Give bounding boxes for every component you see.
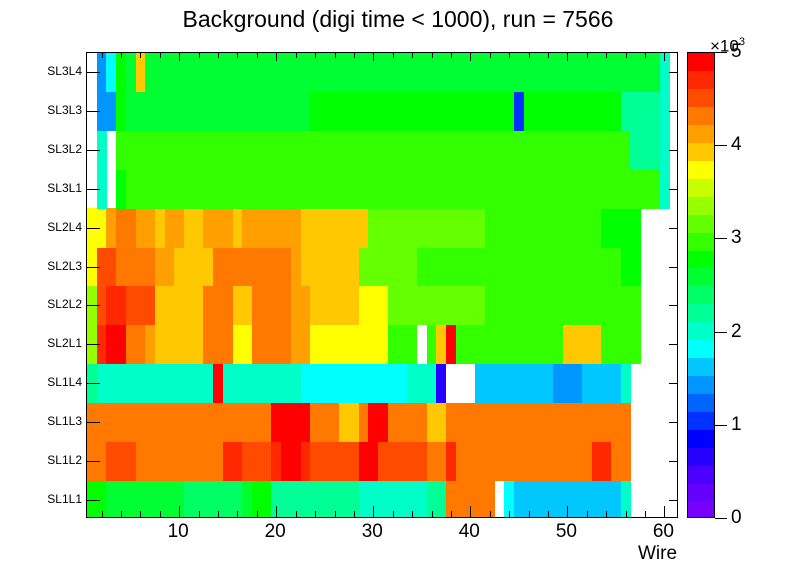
heatmap-cell xyxy=(136,53,146,92)
heatmap-cell xyxy=(310,325,388,364)
x-axis-tick-top xyxy=(626,53,627,58)
x-axis-tick xyxy=(645,511,646,517)
colorbar-segment xyxy=(688,268,714,286)
y-axis-tick-right xyxy=(669,461,677,462)
heatmap-cell xyxy=(116,92,126,131)
colorbar-segment xyxy=(688,340,714,358)
heatmap-cell xyxy=(378,441,427,480)
heatmap-cell xyxy=(388,403,427,442)
colorbar-segment xyxy=(688,53,714,71)
x-axis-tick xyxy=(237,511,238,517)
x-axis-tick xyxy=(587,511,588,517)
x-axis-tick xyxy=(373,506,374,517)
x-axis-label-40: 40 xyxy=(459,521,480,543)
heatmap-cell xyxy=(213,247,291,286)
heatmap-cell xyxy=(427,480,447,518)
heatmap-cell xyxy=(155,325,204,364)
heatmap-cell xyxy=(475,364,553,403)
heatmap-cell xyxy=(359,247,418,286)
x-axis-tick xyxy=(354,511,355,517)
colorbar-label-3: 3 xyxy=(731,227,742,249)
x-axis-tick-top xyxy=(606,53,607,58)
heatmap-cell xyxy=(106,480,184,518)
heatmap-cell xyxy=(388,325,418,364)
heatmap-cell xyxy=(456,441,592,480)
y-axis-tick xyxy=(87,189,100,190)
x-axis-tick xyxy=(470,506,471,517)
x-axis-tick xyxy=(218,511,219,517)
x-axis-tick xyxy=(548,511,549,517)
colorbar-label-5: 5 xyxy=(731,41,742,63)
colorbar-segment xyxy=(688,125,714,143)
colorbar-label-1: 1 xyxy=(731,414,742,436)
x-axis-tick-top xyxy=(354,53,355,58)
x-axis-tick-top xyxy=(548,53,549,58)
colorbar-segment xyxy=(688,483,714,501)
x-axis-tick-top xyxy=(509,53,510,58)
heatmap-cell xyxy=(601,325,640,364)
heatmap-cell xyxy=(456,325,563,364)
heatmap-cell xyxy=(106,286,126,325)
y-axis-tick-right xyxy=(669,228,677,229)
heatmap-cell xyxy=(126,53,136,92)
heatmap-cell xyxy=(301,247,360,286)
x-axis-tick-top xyxy=(373,53,374,61)
heatmap-cell xyxy=(184,480,243,518)
heatmap-cell xyxy=(359,286,389,325)
y-axis-tick-right xyxy=(669,305,677,306)
heatmap-cell xyxy=(116,131,631,170)
heatmap-cell xyxy=(407,364,437,403)
heatmap-cell xyxy=(291,286,311,325)
x-axis-tick-top xyxy=(102,53,103,58)
heatmap-cell xyxy=(174,247,213,286)
x-axis-tick-top xyxy=(237,53,238,58)
colorbar-segment xyxy=(688,501,714,518)
y-axis-tick-right xyxy=(669,72,677,73)
colorbar-segment xyxy=(688,358,714,376)
x-axis-label-10: 10 xyxy=(168,521,189,543)
y-axis-label-sl3l3: SL3L3 xyxy=(47,103,82,117)
heatmap-cell xyxy=(155,247,175,286)
x-axis-tick-top xyxy=(257,53,258,58)
colorbar-tick xyxy=(715,52,727,53)
colorbar-segment xyxy=(688,447,714,465)
colorbar-segment xyxy=(688,286,714,304)
colorbar-segment xyxy=(688,394,714,412)
colorbar-tick xyxy=(715,425,727,426)
x-axis-tick xyxy=(606,511,607,517)
x-axis-tick xyxy=(509,511,510,517)
colorbar-tick xyxy=(715,332,727,333)
colorbar-segment xyxy=(688,322,714,340)
heatmap-cell xyxy=(514,92,524,131)
x-axis-tick xyxy=(412,511,413,517)
heatmap-cell xyxy=(97,364,214,403)
heatmap-cell xyxy=(203,208,233,247)
x-axis-tick xyxy=(451,511,452,517)
heatmap-cell xyxy=(213,364,223,403)
y-axis-tick-right xyxy=(669,189,677,190)
x-axis-tick xyxy=(567,506,568,517)
y-axis-tick-right xyxy=(669,383,677,384)
x-axis-title: Wire xyxy=(638,543,677,565)
x-axis-tick-top xyxy=(179,53,180,61)
heatmap-cell xyxy=(233,208,243,247)
y-axis-label-sl3l2: SL3L2 xyxy=(47,142,82,156)
heatmap-cell xyxy=(106,208,116,247)
y-axis-label-sl2l2: SL2L2 xyxy=(47,297,82,311)
heatmap-cell xyxy=(359,403,369,442)
x-axis-tick xyxy=(102,511,103,517)
x-axis-tick-top xyxy=(121,53,122,58)
heatmap-cell xyxy=(291,325,311,364)
heatmap-cell xyxy=(446,325,456,364)
x-axis-tick-top xyxy=(529,53,530,58)
heatmap-cell xyxy=(223,441,243,480)
heatmap-cell xyxy=(126,170,660,209)
heatmap-cell xyxy=(252,480,272,518)
x-axis-tick-top xyxy=(432,53,433,58)
heatmap-cell xyxy=(203,325,233,364)
x-axis-tick-top xyxy=(664,53,665,61)
x-axis-tick xyxy=(160,511,161,517)
colorbar-tick xyxy=(715,145,727,146)
x-axis-label-60: 60 xyxy=(653,521,674,543)
heatmap-cell xyxy=(427,441,447,480)
colorbar-tick xyxy=(715,518,727,519)
colorbar-segment xyxy=(688,89,714,107)
colorbar-segment xyxy=(688,411,714,429)
heatmap-cell xyxy=(485,286,641,325)
y-axis-label-sl1l3: SL1L3 xyxy=(47,414,82,428)
heatmap-cell xyxy=(271,441,281,480)
x-axis-tick-top xyxy=(470,53,471,61)
heatmap-cell xyxy=(106,325,126,364)
heatmap-cell xyxy=(184,208,204,247)
heatmap-cell xyxy=(116,53,126,92)
heatmap-cell xyxy=(242,441,272,480)
heatmap-cell xyxy=(291,247,301,286)
x-axis-tick xyxy=(315,511,316,517)
heatmap-cell xyxy=(301,441,311,480)
x-axis-tick xyxy=(276,506,277,517)
y-axis-tick xyxy=(87,228,100,229)
heatmap-cell xyxy=(271,403,310,442)
heatmap-cell xyxy=(446,403,631,442)
heatmap-cell xyxy=(630,131,660,170)
heatmap-cell xyxy=(136,441,224,480)
x-axis-tick xyxy=(140,511,141,517)
colorbar-label-4: 4 xyxy=(731,134,742,156)
y-axis-tick xyxy=(87,305,100,306)
heatmap-cell xyxy=(310,286,359,325)
heatmap-cell xyxy=(359,441,379,480)
y-axis-tick xyxy=(87,267,100,268)
x-axis-tick-top xyxy=(160,53,161,58)
y-axis-tick xyxy=(87,383,100,384)
heatmap-cell xyxy=(116,208,136,247)
x-axis-tick xyxy=(199,511,200,517)
x-axis-tick-top xyxy=(296,53,297,58)
y-axis-tick xyxy=(87,150,100,151)
heatmap-cell xyxy=(145,325,155,364)
heatmap-cell xyxy=(155,286,204,325)
root-canvas: Background (digi time < 1000), run = 756… xyxy=(0,0,796,572)
heatmap-cell xyxy=(126,286,156,325)
colorbar-segment xyxy=(688,376,714,394)
heatmap-cell xyxy=(223,364,301,403)
heatmap-cell xyxy=(582,364,621,403)
heatmap-cell xyxy=(126,92,311,131)
colorbar-segment xyxy=(688,214,714,232)
heatmap-cell xyxy=(563,325,602,364)
x-axis-tick xyxy=(179,506,180,517)
x-axis-tick-top xyxy=(140,53,141,58)
colorbar-tick xyxy=(715,238,727,239)
y-axis-tick-right xyxy=(669,111,677,112)
x-axis-tick-top xyxy=(315,53,316,58)
x-axis-label-50: 50 xyxy=(556,521,577,543)
heatmap-cell xyxy=(106,53,116,92)
x-axis-tick xyxy=(335,511,336,517)
heatmap-cell xyxy=(621,247,641,286)
heatmap-cell xyxy=(252,286,291,325)
heatmap-cell xyxy=(388,286,485,325)
heatmap-cell xyxy=(611,441,631,480)
x-axis-tick xyxy=(490,511,491,517)
y-axis-tick-right xyxy=(669,267,677,268)
heatmap-cell xyxy=(485,208,602,247)
heatmap-cell xyxy=(233,325,253,364)
colorbar-segment xyxy=(688,304,714,322)
x-axis-tick xyxy=(296,511,297,517)
heatmap-cell xyxy=(116,170,126,209)
heatmap-cell xyxy=(592,441,612,480)
x-axis-tick xyxy=(393,511,394,517)
heatmap-cell xyxy=(368,208,485,247)
y-axis-tick xyxy=(87,111,100,112)
heatmap-cell xyxy=(436,325,446,364)
heatmap-cell xyxy=(233,286,253,325)
x-axis-tick xyxy=(121,511,122,517)
heatmap-cell xyxy=(310,92,514,131)
heatmap-cell xyxy=(165,208,185,247)
colorbar-segment xyxy=(688,250,714,268)
y-axis-tick-right xyxy=(669,422,677,423)
x-axis-tick-top xyxy=(567,53,568,61)
x-axis-label-30: 30 xyxy=(362,521,383,543)
heatmap-cell xyxy=(601,208,640,247)
heatmap-cell xyxy=(106,441,136,480)
heatmap-plot-area[interactable] xyxy=(86,52,678,518)
colorbar-segment xyxy=(688,143,714,161)
y-axis-tick-right xyxy=(669,344,677,345)
heatmap-cell xyxy=(427,403,447,442)
y-axis-tick xyxy=(87,344,100,345)
y-axis-label-sl2l4: SL2L4 xyxy=(47,220,82,234)
x-axis-tick xyxy=(257,511,258,517)
colorbar-segment xyxy=(688,178,714,196)
y-axis-label-sl1l2: SL1L2 xyxy=(47,453,82,467)
heatmap-cell xyxy=(310,403,340,442)
heatmap-cell xyxy=(310,441,359,480)
y-axis-tick xyxy=(87,461,100,462)
x-axis-tick-top xyxy=(451,53,452,58)
x-axis-tick-top xyxy=(490,53,491,58)
y-axis-tick-right xyxy=(669,150,677,151)
heatmap-cell xyxy=(427,325,437,364)
heatmap-cell xyxy=(621,92,660,131)
x-axis-tick xyxy=(529,511,530,517)
colorbar[interactable] xyxy=(687,52,715,518)
x-axis-tick xyxy=(626,511,627,517)
heatmap-cell xyxy=(242,480,252,518)
y-axis-label-sl1l4: SL1L4 xyxy=(47,375,82,389)
colorbar-segment xyxy=(688,107,714,125)
x-axis-tick-top xyxy=(393,53,394,58)
x-axis-tick-top xyxy=(199,53,200,58)
x-axis-tick-top xyxy=(645,53,646,58)
y-axis-label-sl3l4: SL3L4 xyxy=(47,64,82,78)
heatmap-cell xyxy=(281,441,301,480)
y-axis-label-sl1l1: SL1L1 xyxy=(47,492,82,506)
heatmap-cell xyxy=(155,208,165,247)
y-axis-tick xyxy=(87,72,100,73)
heatmap-cell xyxy=(136,208,156,247)
page-title: Background (digi time < 1000), run = 756… xyxy=(0,6,796,33)
y-axis-tick-right xyxy=(669,500,677,501)
heatmap-cells xyxy=(87,53,677,517)
heatmap-cell xyxy=(553,364,583,403)
heatmap-cell xyxy=(339,403,359,442)
heatmap-cell xyxy=(203,286,233,325)
heatmap-cell xyxy=(524,92,621,131)
heatmap-cell xyxy=(436,364,446,403)
x-axis-tick-top xyxy=(587,53,588,58)
heatmap-cell xyxy=(446,441,456,480)
colorbar-segment xyxy=(688,232,714,250)
heatmap-cell xyxy=(417,247,621,286)
y-axis-label-sl3l1: SL3L1 xyxy=(47,181,82,195)
colorbar-label-2: 2 xyxy=(731,321,742,343)
colorbar-segment xyxy=(688,429,714,447)
heatmap-cell xyxy=(621,364,631,403)
heatmap-cell xyxy=(301,364,408,403)
colorbar-segment xyxy=(688,161,714,179)
heatmap-cell xyxy=(145,53,660,92)
x-axis-tick-top xyxy=(335,53,336,58)
heatmap-cell xyxy=(368,403,388,442)
heatmap-cell xyxy=(301,208,369,247)
colorbar-segment xyxy=(688,196,714,214)
x-axis-tick xyxy=(664,506,665,517)
heatmap-cell xyxy=(126,325,146,364)
y-axis-tick xyxy=(87,500,100,501)
x-axis-tick-top xyxy=(276,53,277,61)
x-axis-tick-top xyxy=(218,53,219,58)
heatmap-cell xyxy=(252,325,291,364)
x-axis-tick xyxy=(432,511,433,517)
heatmap-cell xyxy=(116,247,155,286)
y-axis-label-sl2l3: SL2L3 xyxy=(47,259,82,273)
y-axis-label-sl2l1: SL2L1 xyxy=(47,336,82,350)
colorbar-segment xyxy=(688,465,714,483)
colorbar-segment xyxy=(688,71,714,89)
colorbar-label-0: 0 xyxy=(731,507,742,529)
x-axis-label-20: 20 xyxy=(265,521,286,543)
heatmap-cell xyxy=(87,403,272,442)
y-axis-tick xyxy=(87,422,100,423)
heatmap-cell xyxy=(242,208,301,247)
x-axis-tick-top xyxy=(412,53,413,58)
